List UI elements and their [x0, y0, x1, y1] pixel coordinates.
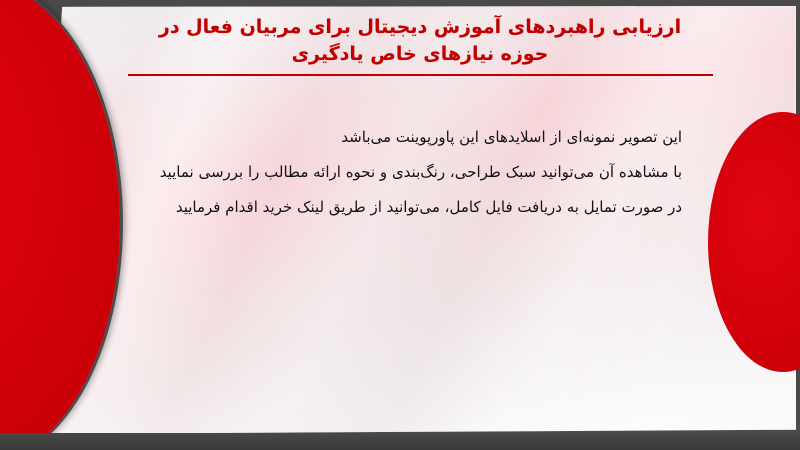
slide-bottom-bar — [0, 433, 800, 450]
slide-title-line-1: ارزیابی راهبردهای آموزش دیجیتال برای مرب… — [120, 14, 720, 41]
slide-body-text: این تصویر نمونه‌ای از اسلایدهای این پاور… — [122, 120, 682, 225]
slide-title: ارزیابی راهبردهای آموزش دیجیتال برای مرب… — [120, 14, 720, 76]
body-text-line-2: با مشاهده آن می‌توانید سبک طراحی، رنگ‌بن… — [122, 155, 682, 190]
title-underline-rule — [128, 74, 713, 76]
body-text-line-1: این تصویر نمونه‌ای از اسلایدهای این پاور… — [122, 120, 682, 155]
presentation-slide: ارزیابی راهبردهای آموزش دیجیتال برای مرب… — [0, 0, 800, 450]
body-text-line-3: در صورت تمایل به دریافت فایل کامل، می‌تو… — [122, 190, 682, 225]
slide-title-line-2: حوزه نیازهای خاص یادگیری — [120, 41, 720, 68]
